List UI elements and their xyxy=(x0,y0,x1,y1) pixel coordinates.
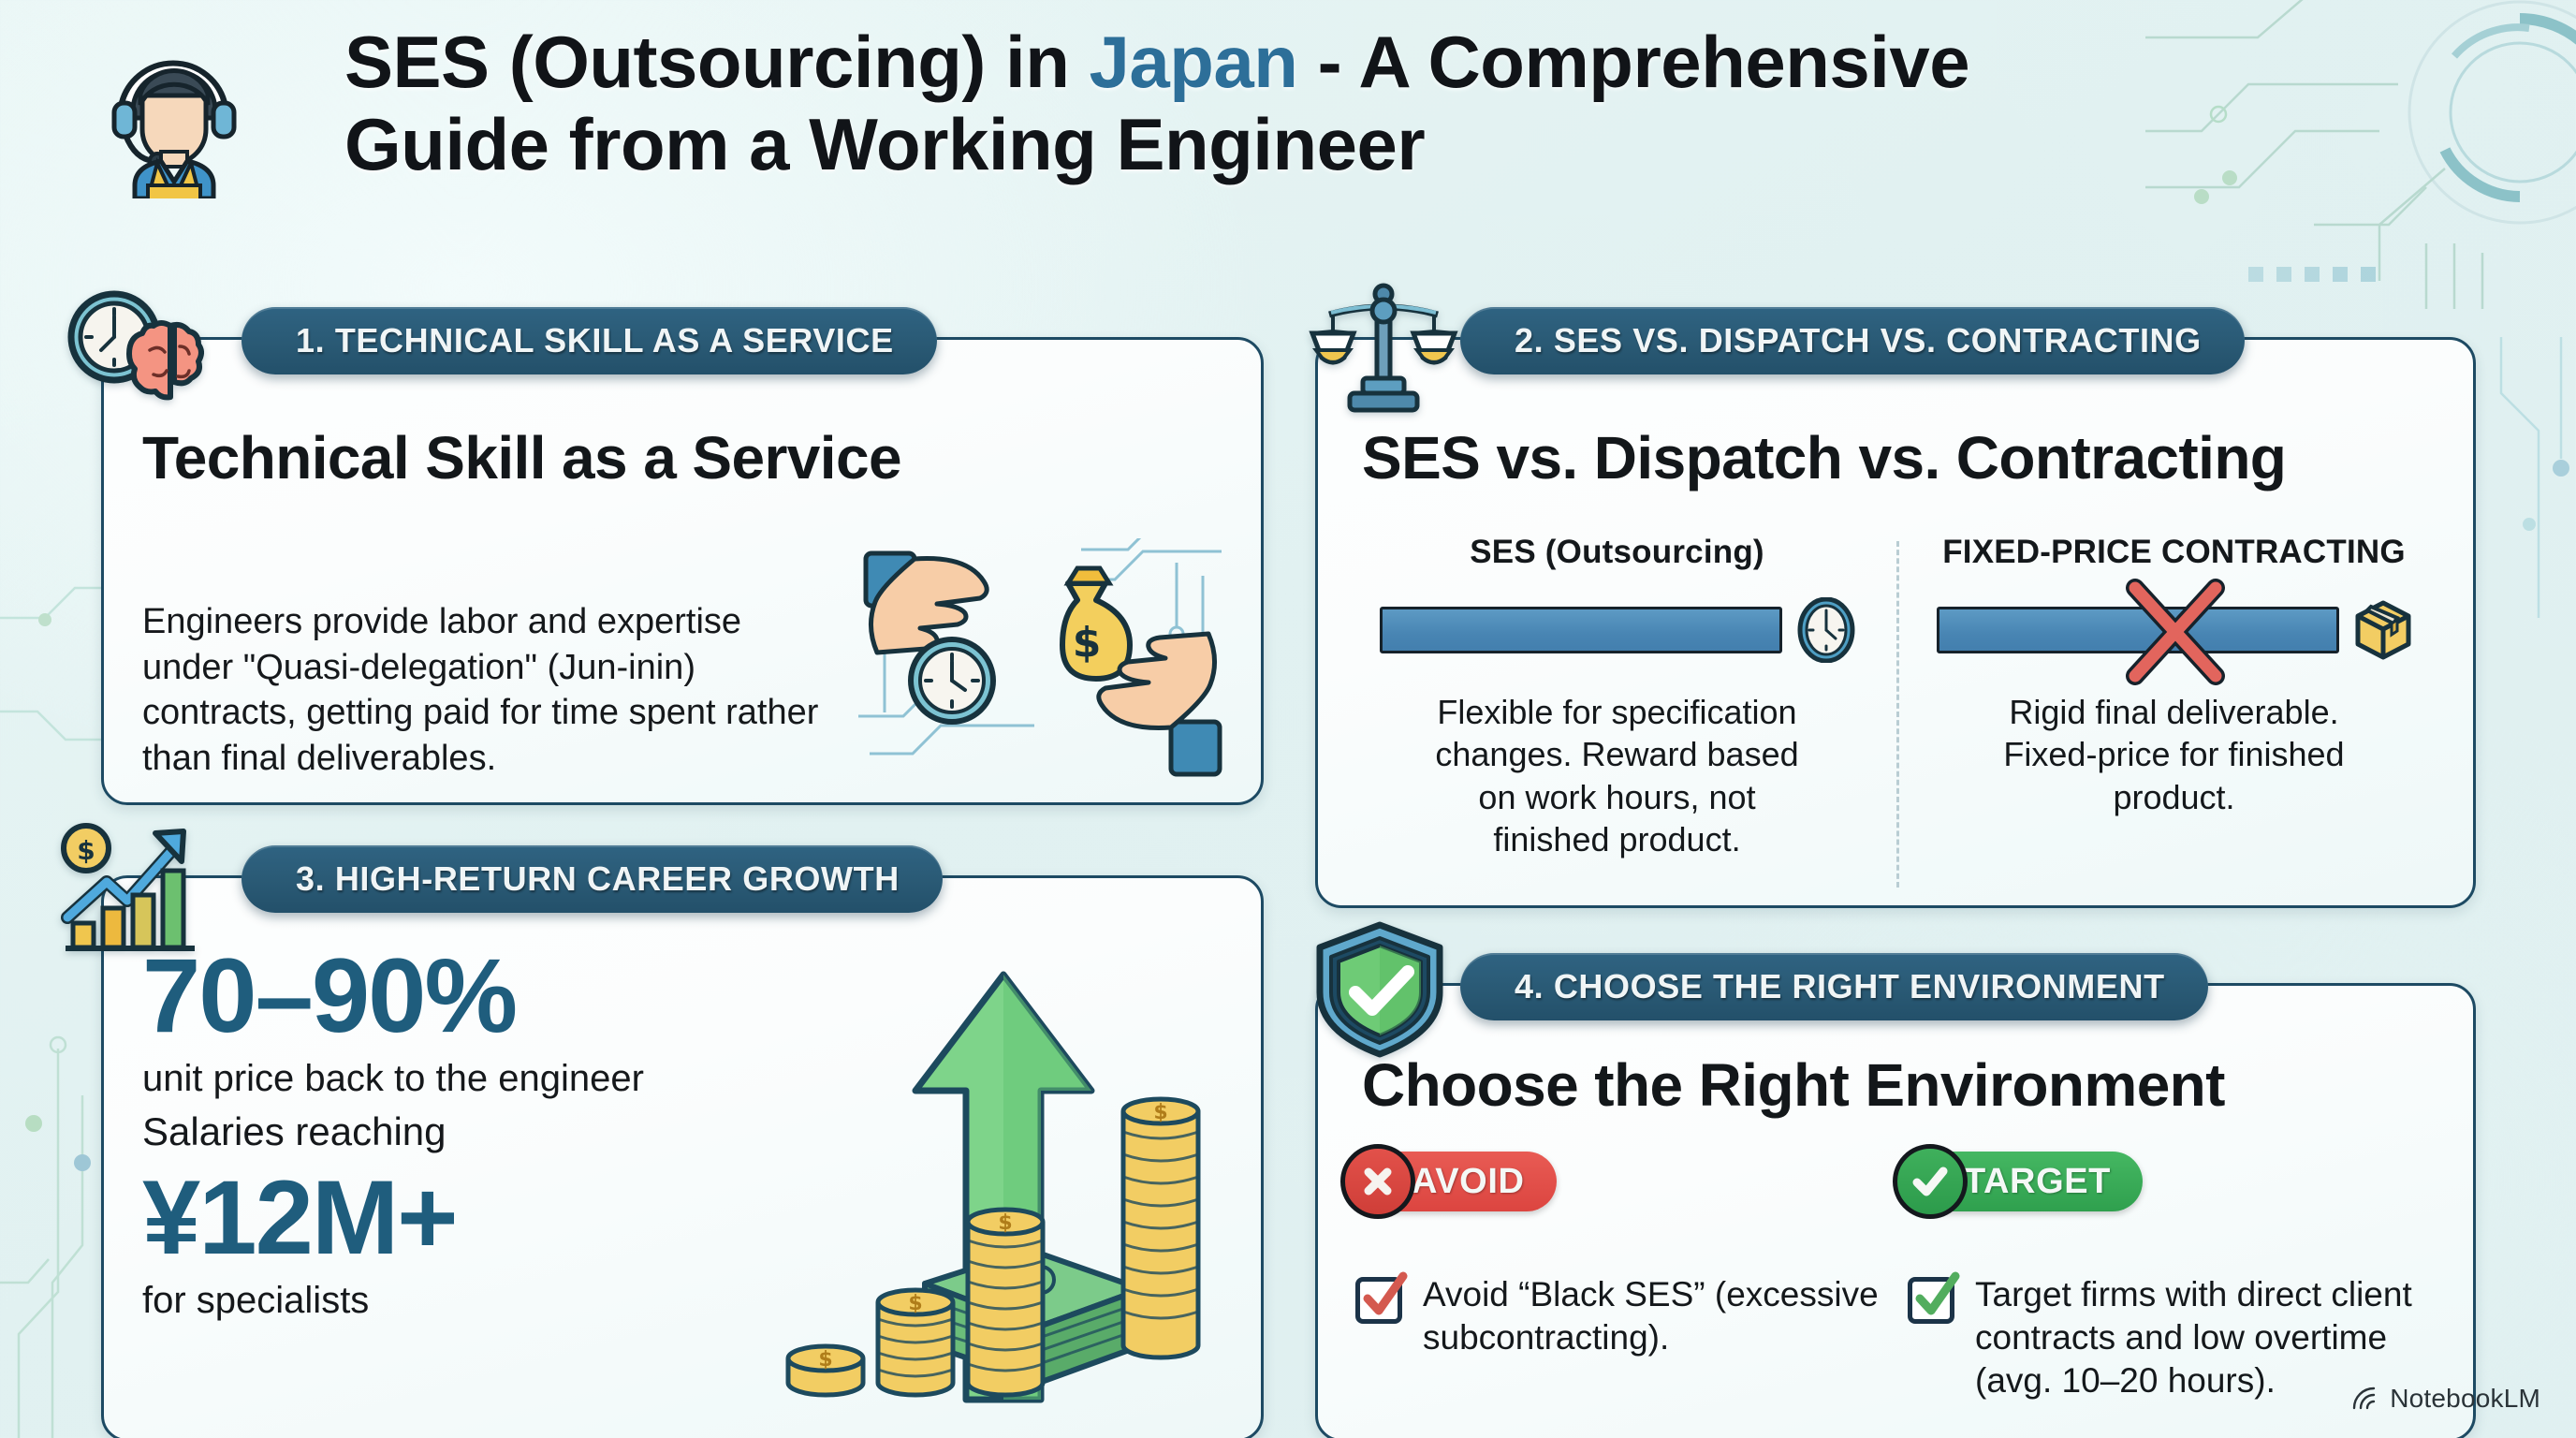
svg-text:$: $ xyxy=(998,1211,1012,1235)
hands-exchange-clock-moneybag-icon: $ xyxy=(847,538,1240,791)
card3-stat1: 70–90% unit price back to the engineer xyxy=(142,944,644,1100)
target-badge[interactable]: TARGET xyxy=(1908,1152,2143,1211)
card4-pill-row: AVOID TARGET xyxy=(1355,1152,2460,1264)
card2-col1-bar xyxy=(1380,607,1782,653)
card2-col2-bar-row xyxy=(1937,599,2412,661)
card3-stat2-caption: for specialists xyxy=(142,1280,457,1322)
check-circle-icon xyxy=(1893,1144,1968,1219)
target-check-item: Target firms with direct client contract… xyxy=(1908,1273,2460,1402)
svg-text:$: $ xyxy=(1073,619,1102,667)
growth-chart-coin-icon: $ xyxy=(54,820,204,961)
card2-col2-title: FIXED-PRICE CONTRACTING xyxy=(1942,534,2406,571)
clock-brain-icon xyxy=(56,281,206,421)
card3-badge: 3. HIGH-RETURN CAREER GROWTH xyxy=(241,845,943,913)
card4-badge-label: 4. CHOOSE THE RIGHT ENVIRONMENT xyxy=(1515,967,2165,1006)
svg-text:$: $ xyxy=(908,1292,922,1315)
page-title-line2: Guide from a Working Engineer xyxy=(344,103,2217,185)
card4-pill-cell-target: TARGET xyxy=(1908,1152,2460,1264)
page-title: SES (Outsourcing) in Japan - A Comprehen… xyxy=(344,21,2217,185)
card2-col1-bar-row xyxy=(1380,599,1855,661)
card3-lead-text: Salaries reaching xyxy=(142,1109,457,1154)
title-accent-japan: Japan xyxy=(1090,21,1298,103)
card2-col1-title: SES (Outsourcing) xyxy=(1470,534,1764,571)
avoid-badge[interactable]: AVOID xyxy=(1355,1152,1557,1211)
x-circle-icon xyxy=(1340,1144,1415,1219)
card1-body: Engineers provide labor and expertise un… xyxy=(142,599,826,782)
card3-stat2: Salaries reaching ¥12M+ for specialists xyxy=(142,1109,457,1322)
card2-column-ses: SES (Outsourcing) Flexible for specifica… xyxy=(1339,534,1895,889)
checkbox-checked-green-icon[interactable] xyxy=(1908,1277,1954,1324)
card2-col1-desc: Flexible for specification changes. Rewa… xyxy=(1421,691,1814,860)
green-shield-check-icon xyxy=(1305,919,1455,1060)
notebooklm-spiral-icon xyxy=(2350,1385,2378,1413)
avoid-check-text: Avoid “Black SES” (excessive subcontract… xyxy=(1423,1273,1880,1359)
card1-badge: 1. TECHNICAL SKILL AS A SERVICE xyxy=(241,307,937,374)
card3-stat2-value: ¥12M+ xyxy=(142,1166,457,1270)
svg-text:$: $ xyxy=(1153,1101,1167,1124)
balance-scales-icon xyxy=(1309,279,1458,419)
target-check-text: Target firms with direct client contract… xyxy=(1975,1273,2460,1402)
svg-text:$: $ xyxy=(77,835,95,866)
card2-column-contracting: FIXED-PRICE CONTRACTING xyxy=(1895,534,2452,889)
card4-pill-cell-avoid: AVOID xyxy=(1355,1152,1908,1264)
card4-heading: Choose the Right Environment xyxy=(1362,1050,2225,1120)
card2-badge-label: 2. SES VS. DISPATCH VS. CONTRACTING xyxy=(1515,321,2202,360)
card2-comparison: SES (Outsourcing) Flexible for specifica… xyxy=(1339,534,2452,889)
card4-badge: 4. CHOOSE THE RIGHT ENVIRONMENT xyxy=(1460,953,2208,1020)
card3-stat1-value: 70–90% xyxy=(142,944,644,1049)
title-part1: SES (Outsourcing) in xyxy=(344,21,1090,103)
card2-col2-desc: Rigid final deliverable. Fixed-price for… xyxy=(1978,691,2371,818)
red-cross-out-icon xyxy=(2115,571,2236,693)
page-title-line1: SES (Outsourcing) in Japan - A Comprehen… xyxy=(344,21,2217,103)
clock-icon xyxy=(1797,597,1855,663)
title-part2: - A Comprehensive xyxy=(1297,21,1969,103)
package-box-icon xyxy=(2354,597,2412,663)
support-agent-headset-icon xyxy=(84,21,262,198)
card1-heading: Technical Skill as a Service xyxy=(142,423,901,492)
card3-badge-label: 3. HIGH-RETURN CAREER GROWTH xyxy=(296,859,900,899)
card3-stat1-caption: unit price back to the engineer xyxy=(142,1058,644,1100)
target-badge-label: TARGET xyxy=(1964,1162,2111,1202)
svg-text:$: $ xyxy=(818,1348,832,1372)
notebooklm-watermark-label: NotebookLM xyxy=(2390,1384,2540,1414)
card1-badge-label: 1. TECHNICAL SKILL AS A SERVICE xyxy=(296,321,894,360)
green-arrow-coin-stacks-cash-icon: $ $ $ xyxy=(749,922,1254,1418)
checkbox-checked-red-icon[interactable] xyxy=(1355,1277,1402,1324)
card2-badge: 2. SES VS. DISPATCH VS. CONTRACTING xyxy=(1460,307,2245,374)
avoid-check-item: Avoid “Black SES” (excessive subcontract… xyxy=(1355,1273,1880,1359)
avoid-badge-label: AVOID xyxy=(1412,1162,1525,1202)
page-header: SES (Outsourcing) in Japan - A Comprehen… xyxy=(0,0,2576,262)
notebooklm-watermark: NotebookLM xyxy=(2350,1384,2540,1414)
card2-heading: SES vs. Dispatch vs. Contracting xyxy=(1362,423,2286,492)
